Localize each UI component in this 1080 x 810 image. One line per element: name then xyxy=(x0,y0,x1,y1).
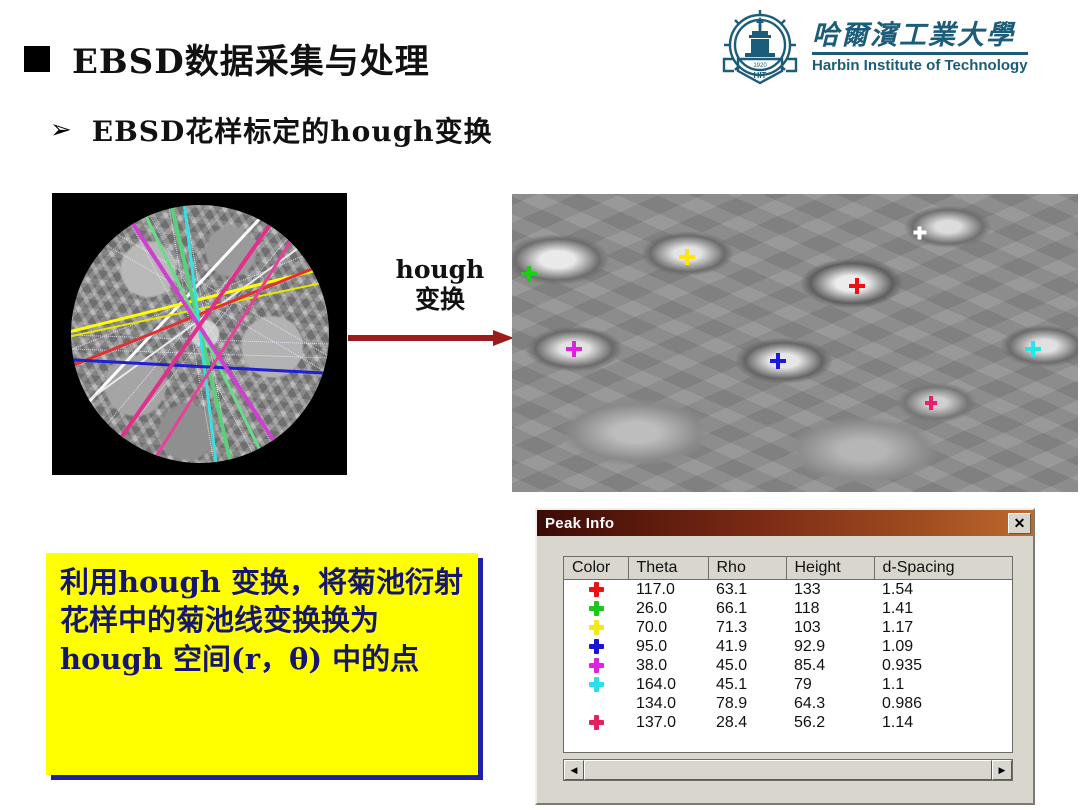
peak-info-titlebar[interactable]: Peak Info ✕ xyxy=(537,510,1033,536)
row-height: 118 xyxy=(786,599,874,618)
table-row[interactable]: 117.063.11331.54 xyxy=(564,580,1012,600)
logo-english-name: Harbin Institute of Technology xyxy=(812,57,1028,74)
ebsd-pattern-image xyxy=(52,193,347,475)
row-color-marker-cell xyxy=(564,656,628,675)
logo-text-block: 哈爾濱工業大學 Harbin Institute of Technology xyxy=(812,22,1028,74)
row-rho: 28.4 xyxy=(708,713,786,732)
peak-color-marker-icon xyxy=(589,677,604,692)
peak-info-title: Peak Info xyxy=(545,515,614,532)
row-color-marker-cell xyxy=(564,637,628,656)
row-dspacing: 1.41 xyxy=(874,599,1012,618)
table-row[interactable]: 134.078.964.30.986 xyxy=(564,694,1012,713)
row-height: 103 xyxy=(786,618,874,637)
ebsd-pattern-disc xyxy=(71,205,329,463)
column-header-rho[interactable]: Rho xyxy=(708,557,786,580)
row-height: 92.9 xyxy=(786,637,874,656)
peak-color-marker-icon xyxy=(589,639,604,654)
row-theta: 38.0 xyxy=(628,656,708,675)
peak-info-window[interactable]: Peak Info ✕ Color Theta Rho Height d-Spa… xyxy=(535,508,1035,805)
peak-color-marker-icon xyxy=(589,715,604,730)
table-row[interactable]: 26.066.11181.41 xyxy=(564,599,1012,618)
slide-subtitle: EBSD花样标定的hough变换 xyxy=(92,110,493,150)
row-dspacing: 1.1 xyxy=(874,675,1012,694)
logo-divider xyxy=(812,52,1028,55)
logo-chinese-name: 哈爾濱工業大學 xyxy=(812,22,1015,50)
row-rho: 63.1 xyxy=(708,580,786,600)
callout-text: 利用hough 变换，将菊池衍射花样中的菊池线变换换为 hough 空间(r，θ… xyxy=(60,563,464,678)
hough-peak-red xyxy=(849,278,865,294)
row-theta: 26.0 xyxy=(628,599,708,618)
right-arrow-icon xyxy=(348,330,514,346)
row-color-marker-cell xyxy=(564,713,628,732)
row-rho: 78.9 xyxy=(708,694,786,713)
row-rho: 45.0 xyxy=(708,656,786,675)
peak-color-marker-icon xyxy=(589,620,604,635)
row-rho: 41.9 xyxy=(708,637,786,656)
hough-space-image xyxy=(512,194,1078,492)
column-header-theta[interactable]: Theta xyxy=(628,557,708,580)
peak-info-table-container[interactable]: Color Theta Rho Height d-Spacing 117.063… xyxy=(563,556,1013,753)
row-height: 79 xyxy=(786,675,874,694)
row-color-marker-cell xyxy=(564,618,628,637)
row-theta: 117.0 xyxy=(628,580,708,600)
row-dspacing: 1.17 xyxy=(874,618,1012,637)
hough-peak-green xyxy=(521,266,537,282)
column-header-height[interactable]: Height xyxy=(786,557,874,580)
row-theta: 137.0 xyxy=(628,713,708,732)
row-rho: 45.1 xyxy=(708,675,786,694)
row-color-marker-cell xyxy=(564,580,628,600)
row-dspacing: 0.986 xyxy=(874,694,1012,713)
table-row[interactable]: 38.045.085.40.935 xyxy=(564,656,1012,675)
square-bullet-icon xyxy=(24,46,50,72)
svg-text:1920: 1920 xyxy=(753,63,767,69)
peak-info-body: Color Theta Rho Height d-Spacing 117.063… xyxy=(539,538,1031,801)
peak-info-table-body: 117.063.11331.5426.066.11181.4170.071.31… xyxy=(564,580,1012,733)
row-height: 133 xyxy=(786,580,874,600)
peak-info-table: Color Theta Rho Height d-Spacing 117.063… xyxy=(564,557,1012,732)
row-rho: 71.3 xyxy=(708,618,786,637)
row-height: 85.4 xyxy=(786,656,874,675)
scroll-right-button[interactable]: ▶ xyxy=(992,760,1012,780)
page-title: EBSD数据采集与处理 xyxy=(72,34,430,83)
row-dspacing: 1.54 xyxy=(874,580,1012,600)
arrow-bullet-icon: ➢ xyxy=(50,117,72,143)
column-header-dspacing[interactable]: d-Spacing xyxy=(874,557,1012,580)
row-color-marker-cell xyxy=(564,599,628,618)
hough-peak-cyan xyxy=(1025,341,1041,357)
row-theta: 134.0 xyxy=(628,694,708,713)
scrollbar-track[interactable] xyxy=(584,760,992,780)
hough-peak-white xyxy=(913,226,926,239)
table-row[interactable]: 164.045.1791.1 xyxy=(564,675,1012,694)
horizontal-scrollbar[interactable]: ◀ ▶ xyxy=(563,759,1013,781)
peak-color-marker-icon xyxy=(589,658,604,673)
row-color-marker-cell xyxy=(564,694,628,713)
row-height: 56.2 xyxy=(786,713,874,732)
row-theta: 164.0 xyxy=(628,675,708,694)
slide-title-row: EBSD数据采集与处理 xyxy=(24,34,430,83)
peak-color-marker-icon xyxy=(589,582,604,597)
table-row[interactable]: 70.071.31031.17 xyxy=(564,618,1012,637)
hough-peak-pink xyxy=(925,396,937,410)
hough-label-line1: hough xyxy=(380,255,500,285)
row-dspacing: 1.09 xyxy=(874,637,1012,656)
hough-peak-magenta xyxy=(566,341,582,357)
table-row[interactable]: 137.028.456.21.14 xyxy=(564,713,1012,732)
row-rho: 66.1 xyxy=(708,599,786,618)
table-header-row: Color Theta Rho Height d-Spacing xyxy=(564,557,1012,580)
scroll-left-button[interactable]: ◀ xyxy=(564,760,584,780)
peak-color-marker-icon xyxy=(589,601,604,616)
hit-crest-icon: 1920 HIT xyxy=(718,9,802,87)
callout-box: 利用hough 变换，将菊池衍射花样中的菊池线变换换为 hough 空间(r，θ… xyxy=(46,553,478,775)
hough-peak-yellow xyxy=(679,249,695,265)
hit-logo: 1920 HIT 哈爾濱工業大學 Harbin Institute of Tec… xyxy=(718,8,1070,88)
row-dspacing: 0.935 xyxy=(874,656,1012,675)
row-theta: 95.0 xyxy=(628,637,708,656)
row-height: 64.3 xyxy=(786,694,874,713)
close-icon[interactable]: ✕ xyxy=(1008,513,1031,534)
hough-peak-blue xyxy=(770,353,786,369)
table-row[interactable]: 95.041.992.91.09 xyxy=(564,637,1012,656)
hough-transform-label: hough 变换 xyxy=(380,255,500,314)
row-theta: 70.0 xyxy=(628,618,708,637)
scrollbar-thumb[interactable] xyxy=(584,760,992,780)
row-dspacing: 1.14 xyxy=(874,713,1012,732)
slide-subtitle-row: ➢ EBSD花样标定的hough变换 xyxy=(50,110,493,150)
svg-text:HIT: HIT xyxy=(754,71,767,80)
column-header-color[interactable]: Color xyxy=(564,557,628,580)
hough-label-line2: 变换 xyxy=(380,285,500,315)
row-color-marker-cell xyxy=(564,675,628,694)
